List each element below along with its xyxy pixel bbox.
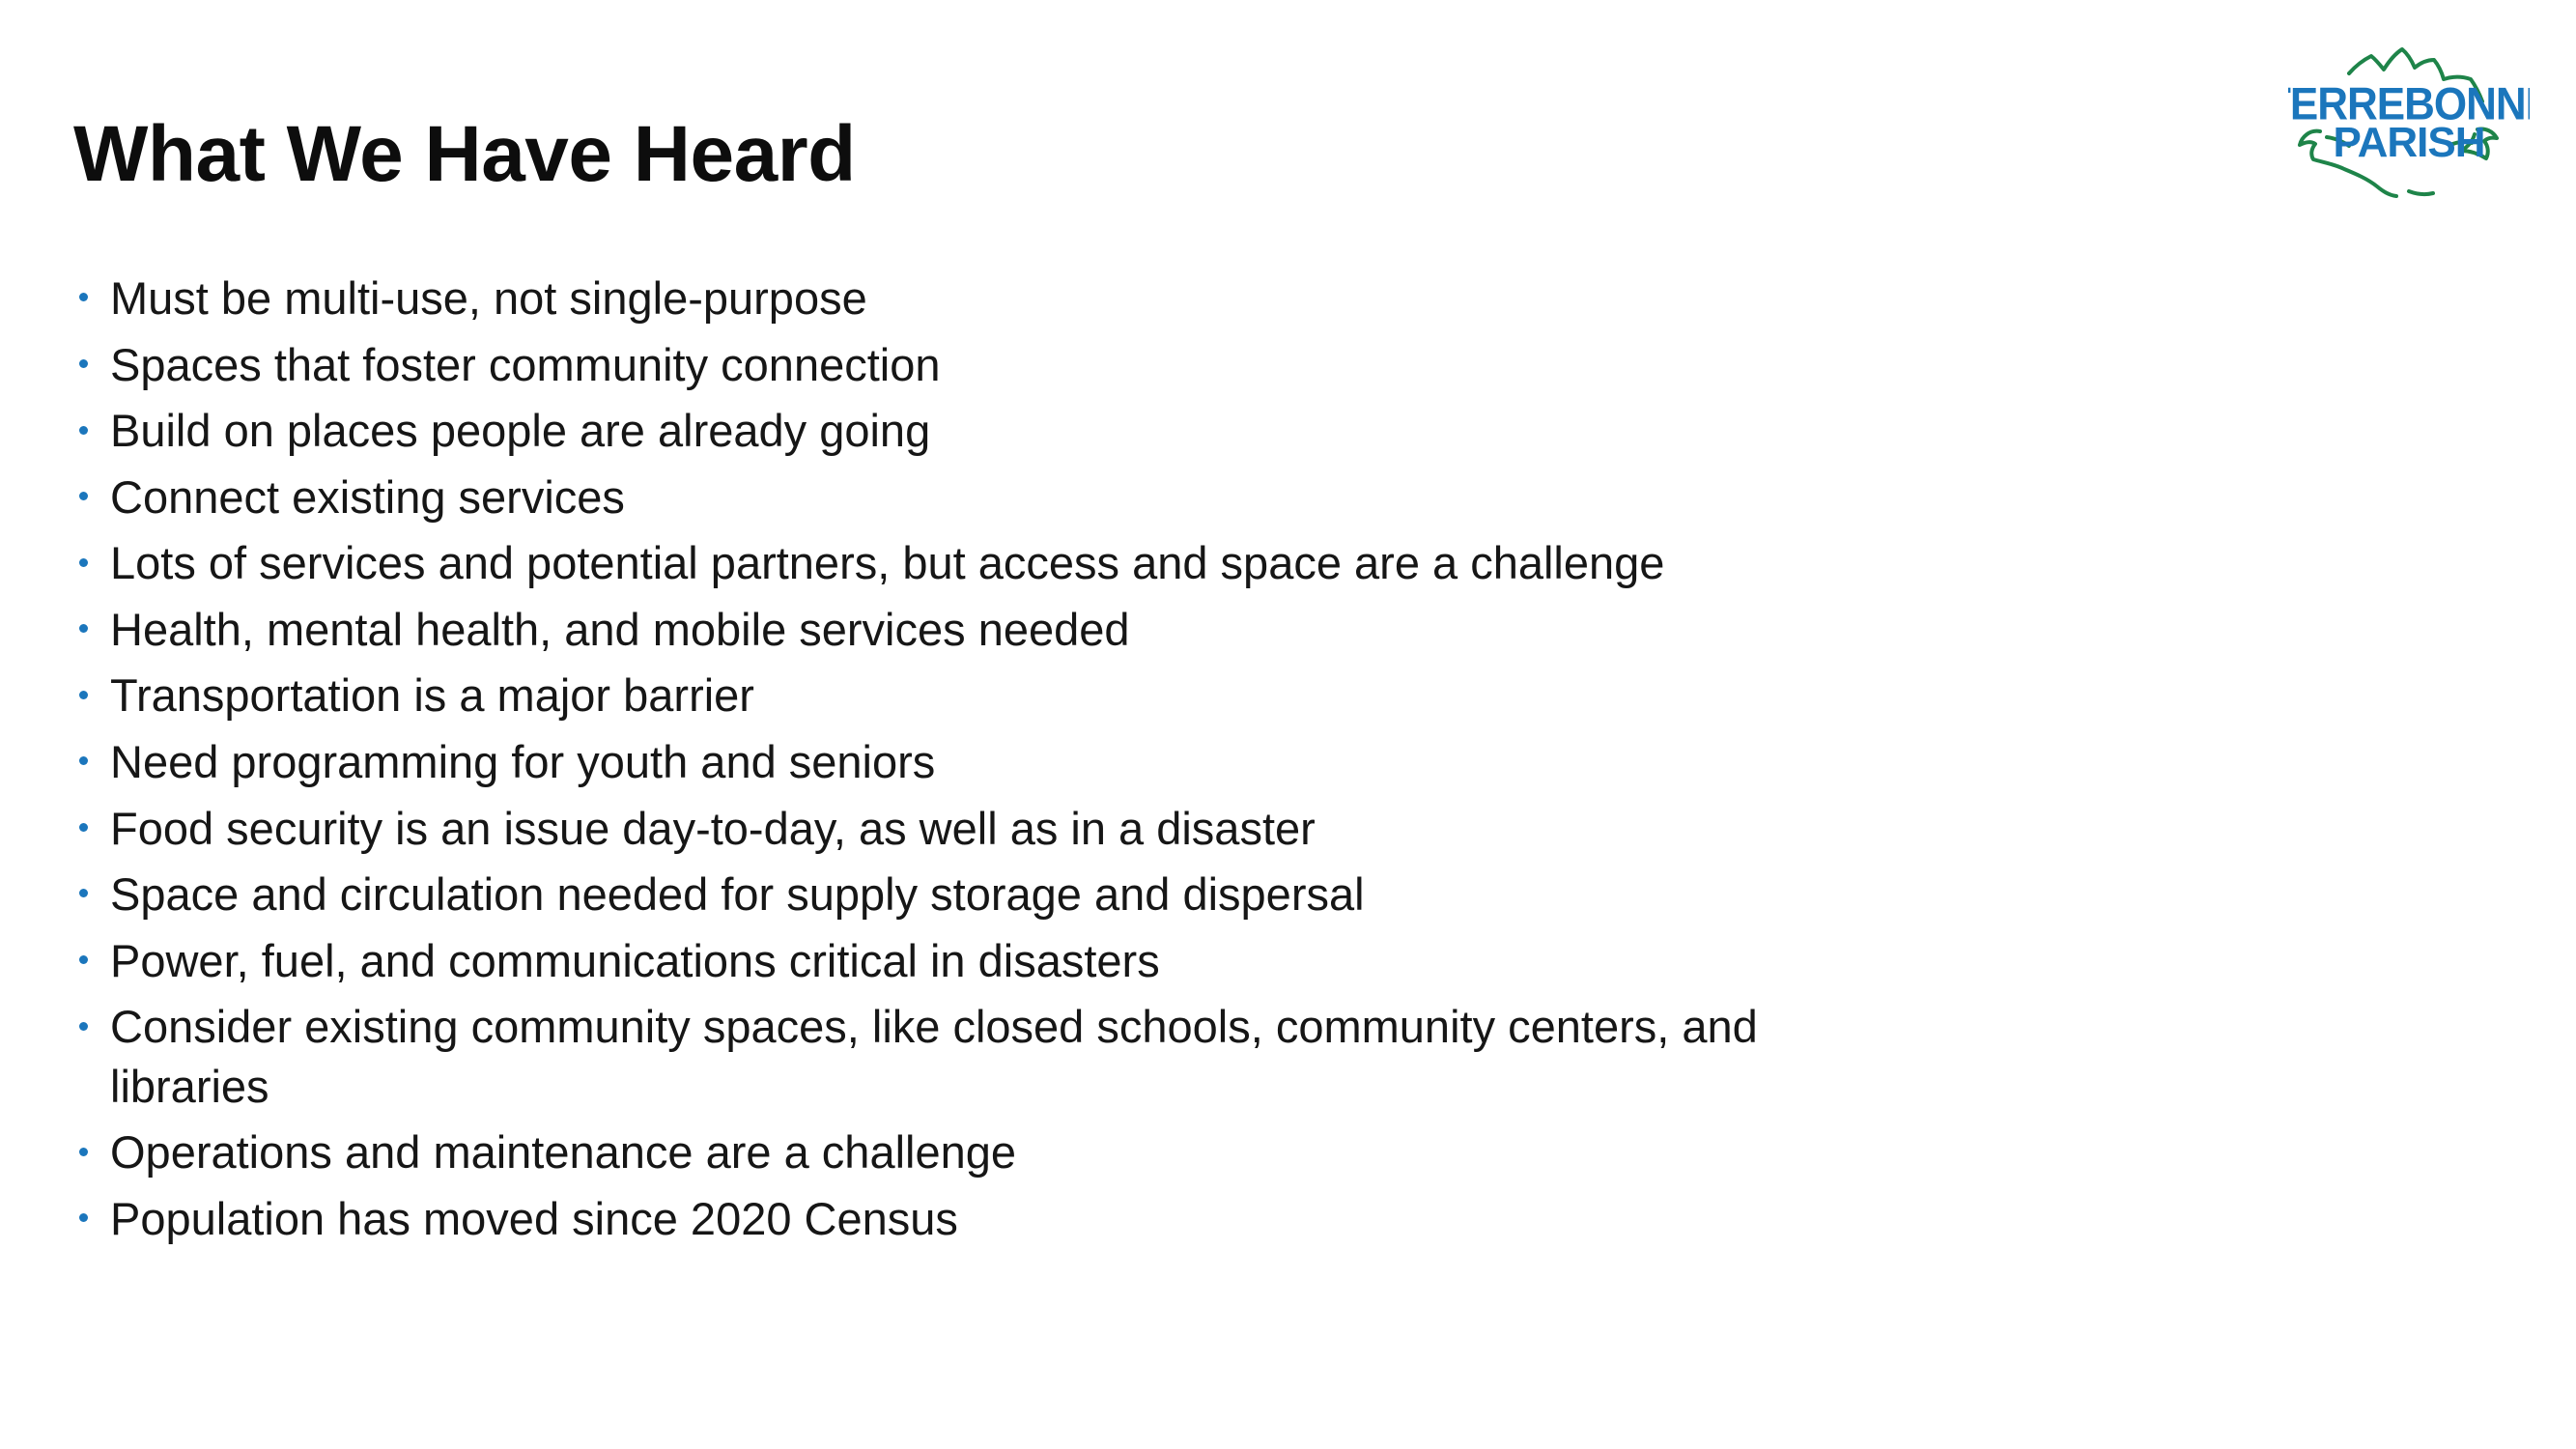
list-item: Build on places people are already going xyxy=(68,401,2289,461)
bullet-dot-icon xyxy=(79,1148,88,1156)
list-item-label: Lots of services and potential partners,… xyxy=(110,533,1858,593)
list-item: Power, fuel, and communications critical… xyxy=(68,931,2289,991)
list-item: Health, mental health, and mobile servic… xyxy=(68,600,2289,660)
list-item: Must be multi-use, not single-purpose xyxy=(68,269,2289,328)
list-item-label: Space and circulation needed for supply … xyxy=(110,865,1858,924)
bullet-dot-icon xyxy=(79,359,88,368)
list-item: Connect existing services xyxy=(68,468,2289,527)
list-item-label: Must be multi-use, not single-purpose xyxy=(110,269,1858,328)
terrebonne-parish-logo: TERREBONNE PARISH TERREBONNE PARISH xyxy=(2288,44,2530,199)
logo-line-2: PARISH xyxy=(2334,119,2485,166)
list-item-label: Operations and maintenance are a challen… xyxy=(110,1122,1858,1182)
list-item-label: Spaces that foster community connection xyxy=(110,335,1858,395)
list-item: Food security is an issue day-to-day, as… xyxy=(68,799,2289,859)
list-item-label: Consider existing community spaces, like… xyxy=(110,997,1858,1116)
bullet-dot-icon xyxy=(79,558,88,567)
bullet-dot-icon xyxy=(79,955,88,964)
list-item: Population has moved since 2020 Census xyxy=(68,1189,2289,1249)
list-item: Lots of services and potential partners,… xyxy=(68,533,2289,593)
what-we-have-heard-list: Must be multi-use, not single-purpose Sp… xyxy=(68,269,2289,1255)
bullet-dot-icon xyxy=(79,1022,88,1031)
list-item: Space and circulation needed for supply … xyxy=(68,865,2289,924)
bullet-dot-icon xyxy=(79,756,88,765)
list-item-label: Health, mental health, and mobile servic… xyxy=(110,600,1858,660)
list-item: Need programming for youth and seniors xyxy=(68,732,2289,792)
bullet-dot-icon xyxy=(79,426,88,435)
bullet-dot-icon xyxy=(79,1213,88,1222)
bullet-dot-icon xyxy=(79,691,88,699)
bullet-dot-icon xyxy=(79,492,88,500)
list-item-label: Transportation is a major barrier xyxy=(110,666,1858,725)
list-item-label: Connect existing services xyxy=(110,468,1858,527)
list-item: Operations and maintenance are a challen… xyxy=(68,1122,2289,1182)
list-item-label: Food security is an issue day-to-day, as… xyxy=(110,799,1858,859)
list-item: Transportation is a major barrier xyxy=(68,666,2289,725)
list-item: Consider existing community spaces, like… xyxy=(68,997,2289,1116)
bullet-dot-icon xyxy=(79,889,88,897)
list-item-label: Power, fuel, and communications critical… xyxy=(110,931,1858,991)
list-item-label: Population has moved since 2020 Census xyxy=(110,1189,1858,1249)
slide: What We Have Heard TERREBONNE PARISH TER… xyxy=(0,0,2576,1449)
bullet-dot-icon xyxy=(79,823,88,832)
list-item: Spaces that foster community connection xyxy=(68,335,2289,395)
list-item-label: Build on places people are already going xyxy=(110,401,1858,461)
bullet-dot-icon xyxy=(79,293,88,301)
page-title: What We Have Heard xyxy=(73,113,856,196)
bullet-dot-icon xyxy=(79,624,88,633)
list-item-label: Need programming for youth and seniors xyxy=(110,732,1858,792)
